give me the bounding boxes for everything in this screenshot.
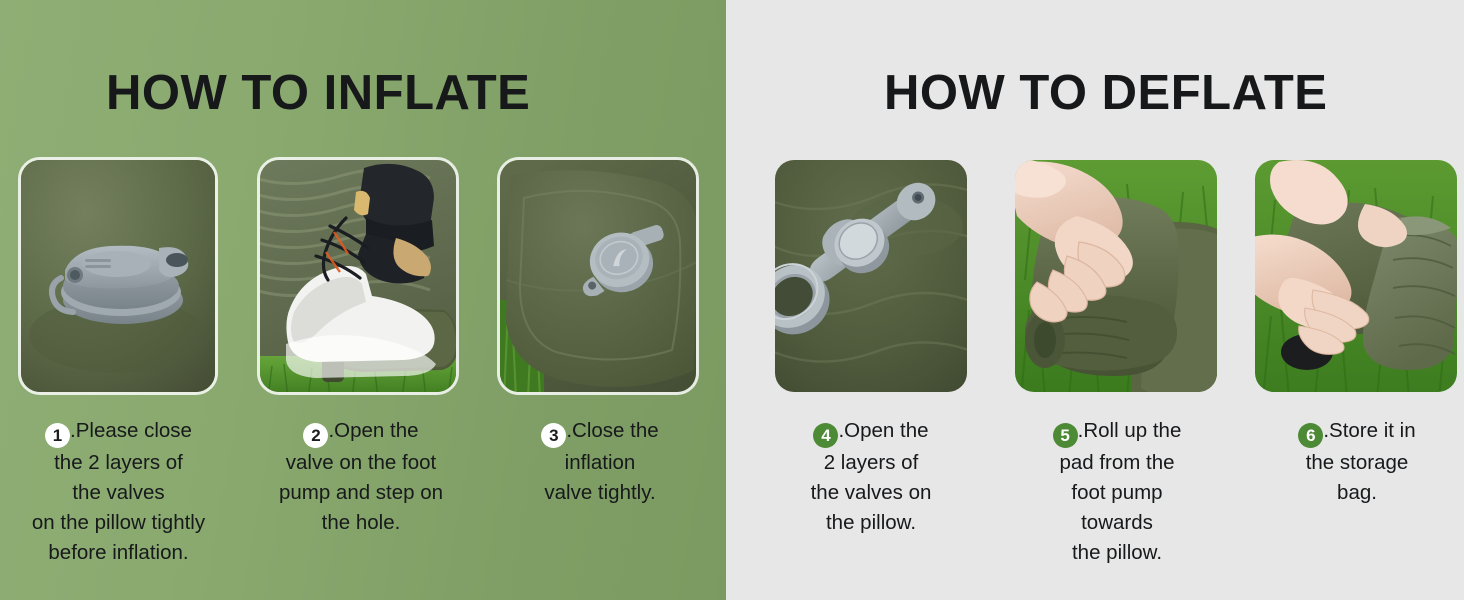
step-1-photo (18, 157, 218, 395)
step-1-number: 1 (45, 423, 70, 448)
step-4-photo (772, 157, 970, 395)
step-6-caption: 6.Store it in the storage bag. (1254, 416, 1460, 508)
step-2-photo (257, 157, 459, 395)
step-5-text: .Roll up the pad from the foot pump towa… (1059, 419, 1181, 564)
step-3-photo (497, 157, 699, 395)
step-6-photo (1252, 157, 1460, 395)
step-2-number: 2 (303, 423, 328, 448)
deflate-heading: HOW TO DEFLATE (884, 65, 1327, 121)
step-5-photo (1012, 157, 1220, 395)
step-3-number: 3 (541, 423, 566, 448)
inflate-heading: HOW TO INFLATE (106, 65, 530, 121)
step-6-number: 6 (1298, 423, 1323, 448)
step-5-caption: 5.Roll up the pad from the foot pump tow… (1012, 416, 1222, 568)
step-4-caption: 4.Open the 2 layers of the valves on the… (768, 416, 974, 538)
infographic-root: HOW TO INFLATE HOW TO DEFLATE (0, 0, 1464, 600)
step-1-caption: 1.Please close the 2 layers of the valve… (6, 416, 231, 568)
step-2-caption: 2.Open the valve on the foot pump and st… (252, 416, 470, 538)
step-5-number: 5 (1053, 423, 1078, 448)
step-4-number: 4 (813, 423, 838, 448)
torn-paper-divider (716, 0, 764, 600)
step-3-caption: 3.Close the inflation valve tightly. (493, 416, 707, 508)
step-6-text: .Store it in the storage bag. (1306, 419, 1416, 504)
